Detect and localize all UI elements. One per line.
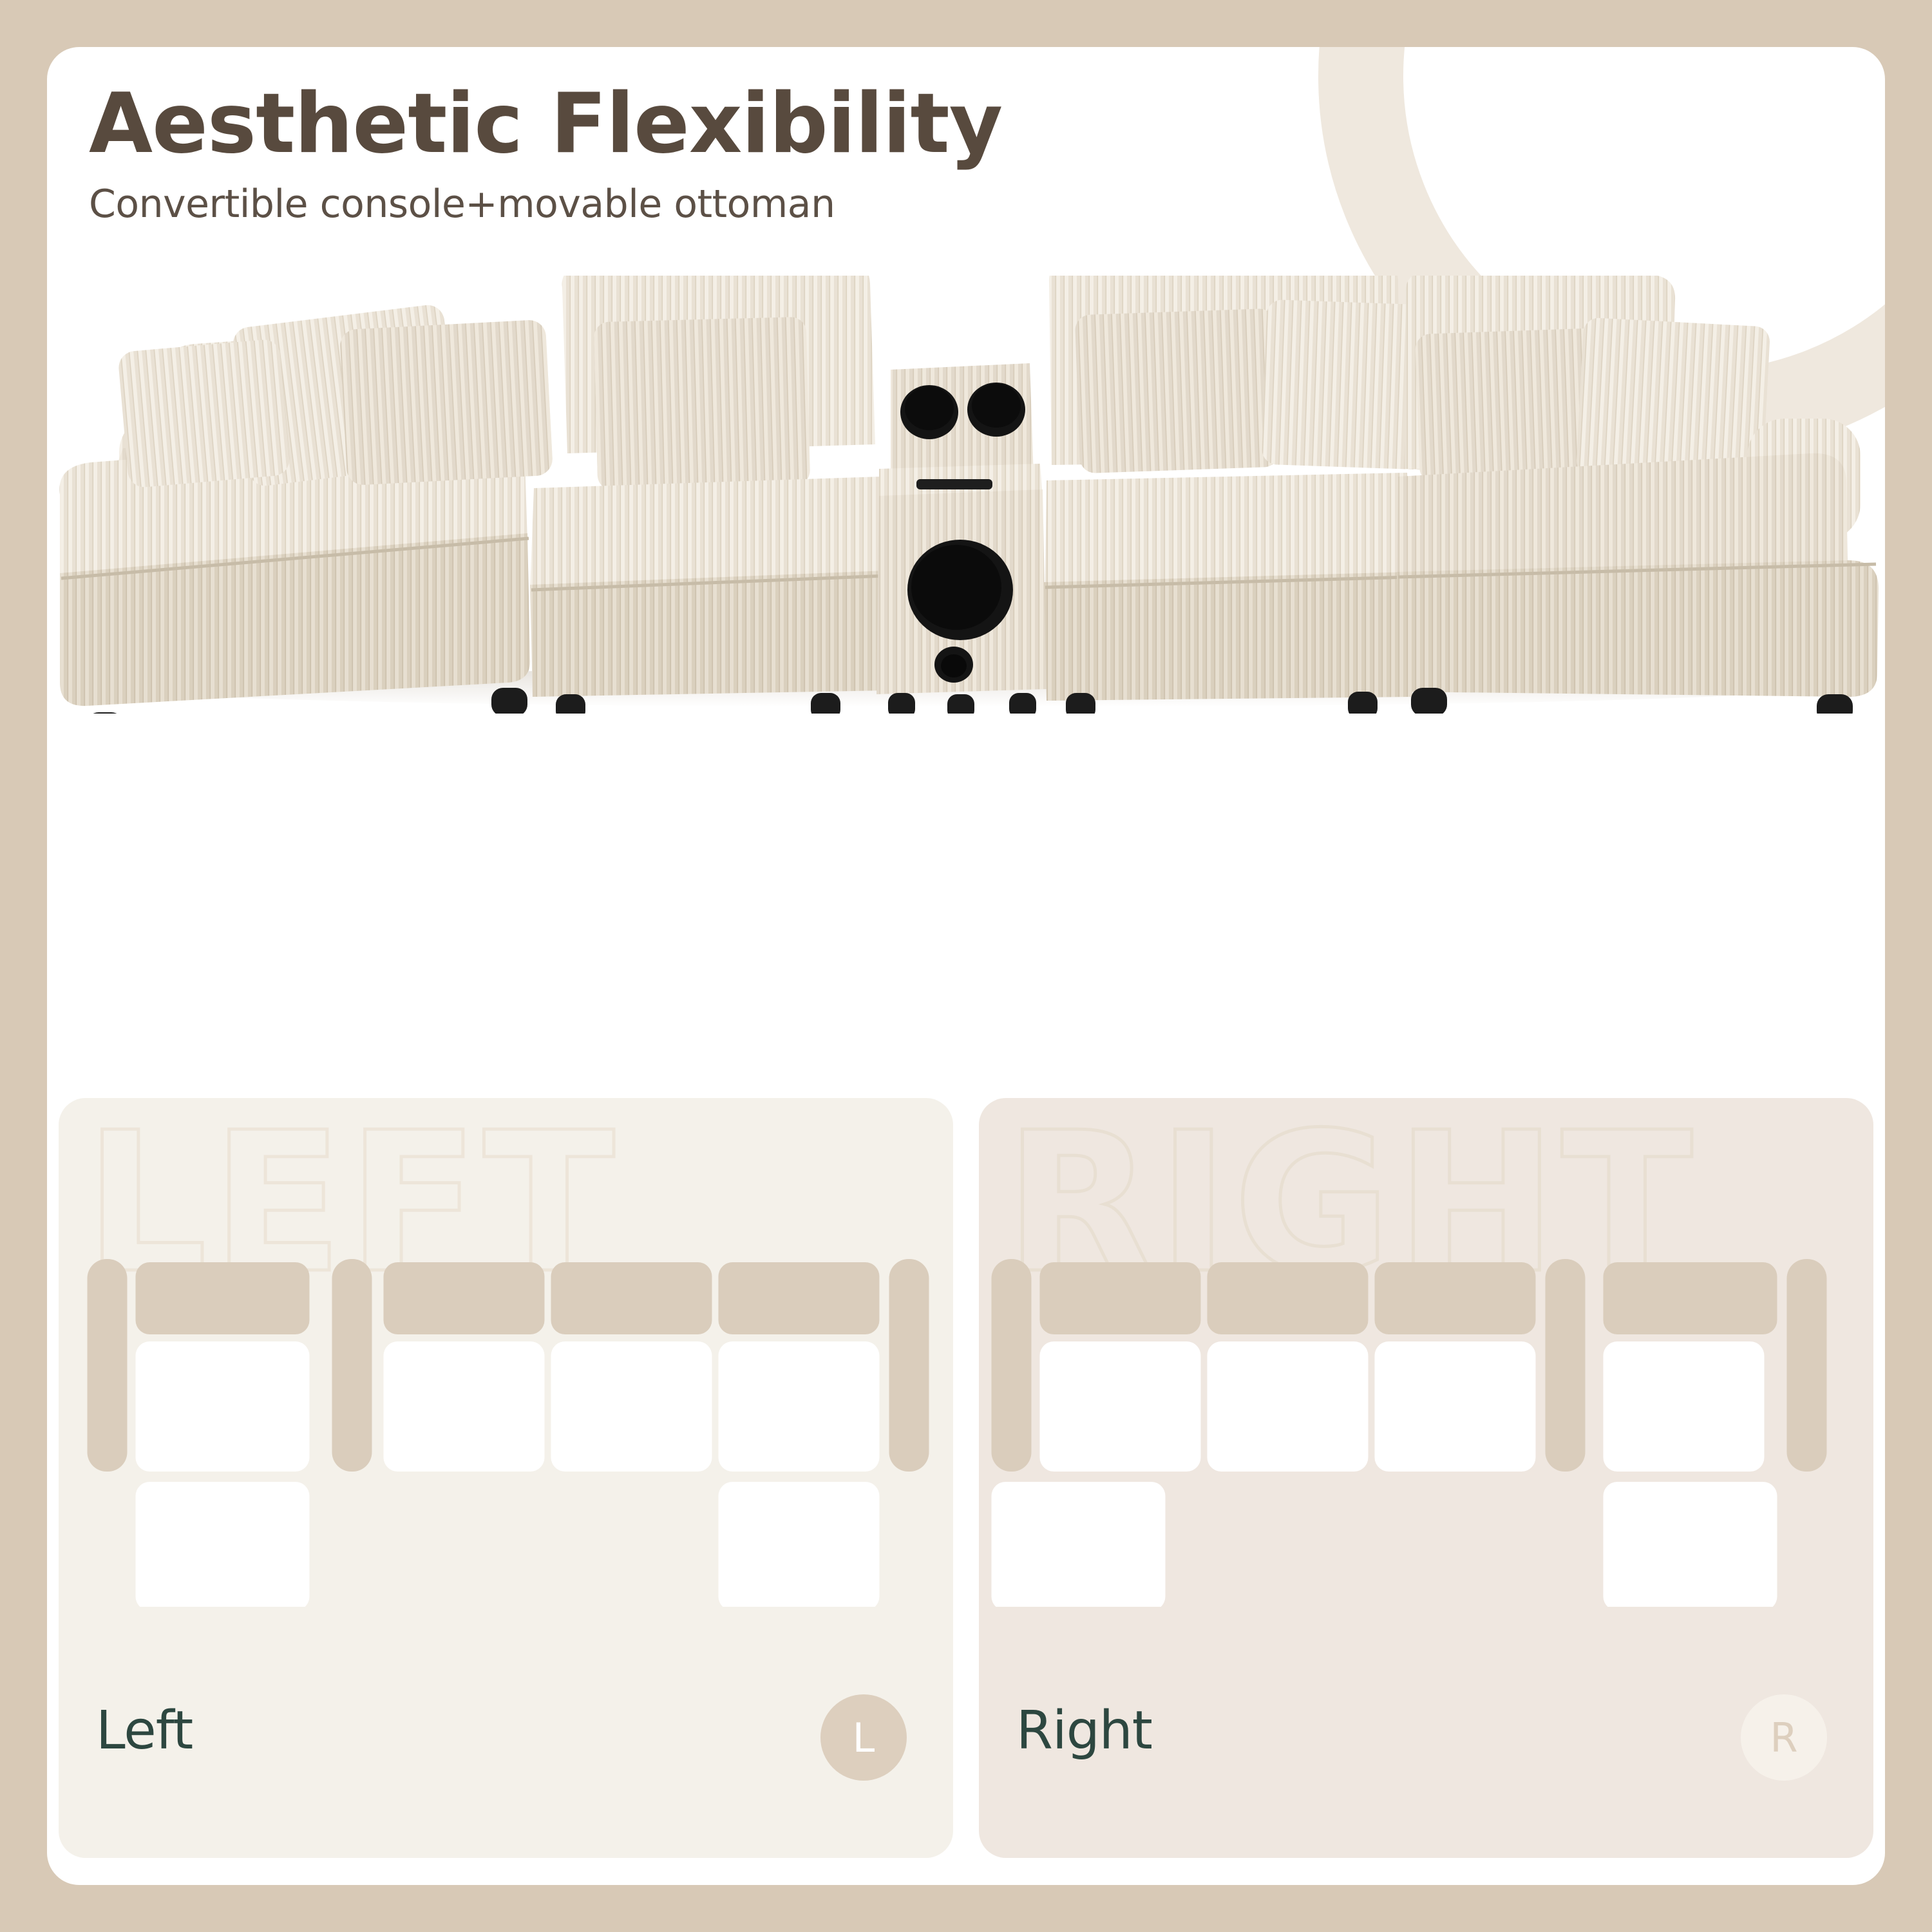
variant-card-left[interactable]: LEFT Left L [59, 1098, 953, 1858]
variant-label-left: Left [96, 1700, 193, 1761]
main-card: Aesthetic Flexibility Convertible consol… [47, 47, 1885, 1885]
right-armrest-bar [1787, 1259, 1827, 1472]
variant-label-right: Right [1016, 1700, 1152, 1761]
right-armrest-bar [889, 1259, 929, 1472]
page-subtitle: Convertible console+movable ottoman [89, 182, 1002, 227]
console-divider-bar [1546, 1259, 1586, 1472]
left-armrest-bar [88, 1259, 128, 1472]
sectional-sofa-illustration [47, 276, 1885, 714]
chaise-module [719, 1482, 880, 1607]
page-title: Aesthetic Flexibility [89, 78, 1002, 170]
variant-card-right[interactable]: RIGHT Right R [979, 1098, 1873, 1858]
chaise-module [136, 1482, 310, 1607]
sofa-right-chaise [1397, 276, 1879, 714]
hero-product-image [47, 276, 1885, 714]
convertible-console [876, 363, 1046, 714]
left-armrest-bar [992, 1259, 1032, 1472]
right-configuration-diagram [979, 1098, 1873, 1607]
variant-badge-right: R [1741, 1694, 1827, 1781]
chaise-module [992, 1482, 1166, 1607]
left-configuration-diagram [59, 1098, 953, 1607]
chaise-module [1604, 1482, 1777, 1607]
variant-badge-left: L [820, 1694, 907, 1781]
variant-cards: LEFT Left L [59, 1098, 1873, 1858]
sofa-center-left-seat [530, 276, 888, 714]
console-divider-bar [332, 1259, 372, 1472]
header: Aesthetic Flexibility Convertible consol… [89, 78, 1002, 227]
sofa-left-pillows [117, 303, 553, 489]
